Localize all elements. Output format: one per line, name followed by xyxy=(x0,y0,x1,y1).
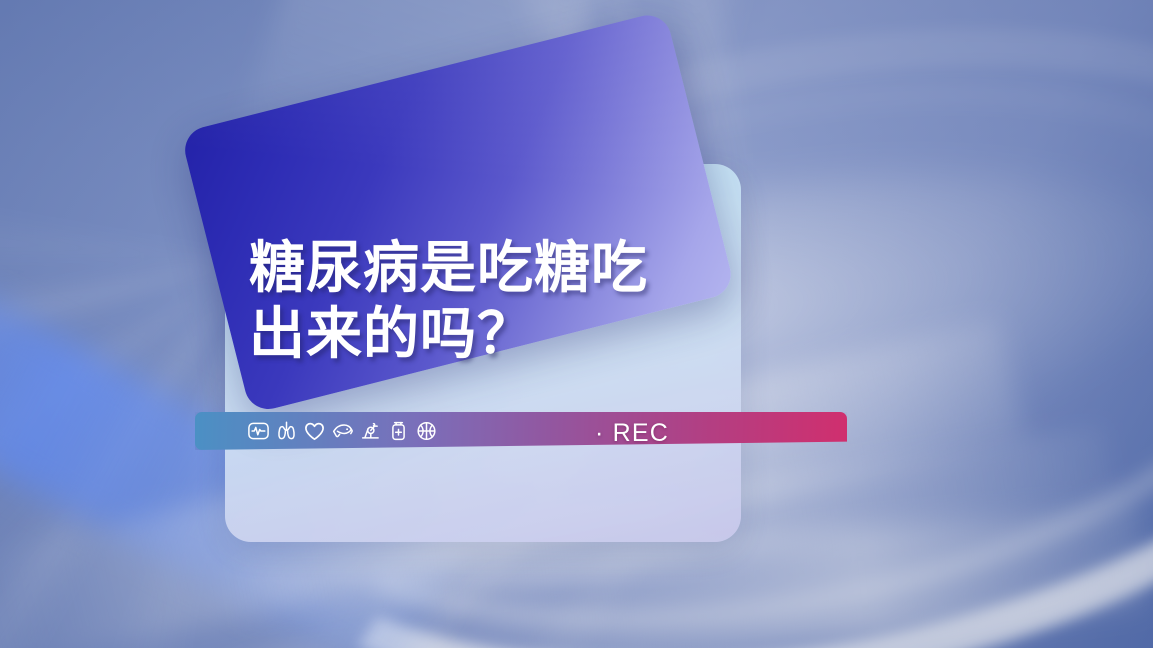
rec-indicator-label: · REC xyxy=(595,419,669,448)
ecg-monitor-icon xyxy=(245,419,272,443)
health-icon-row xyxy=(245,419,440,443)
lungs-icon xyxy=(273,419,300,443)
page-title: 糖尿病是吃糖吃 出来的吗？ xyxy=(249,236,769,368)
fish-icon xyxy=(329,419,356,443)
medicine-bottle-icon xyxy=(385,419,412,443)
heart-icon xyxy=(301,419,328,443)
exercise-bike-icon xyxy=(357,419,384,443)
video-thumbnail-stage: 糖尿病是吃糖吃 出来的吗？ xyxy=(0,0,1153,648)
basketball-icon xyxy=(413,419,440,443)
